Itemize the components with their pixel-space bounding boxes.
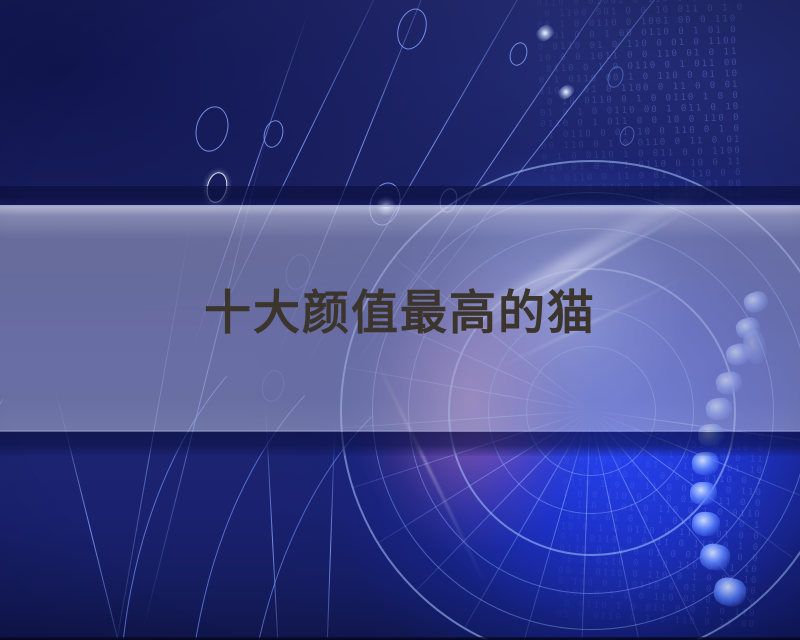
bead-10 bbox=[691, 511, 721, 537]
title-container: 十大颜值最高的猫 bbox=[0, 288, 800, 340]
banner-image: 0110 0 01001 0 110 0 0011 0 0 1100 001 0… bbox=[0, 0, 800, 640]
ring-node-3 bbox=[191, 103, 233, 155]
bead-9 bbox=[690, 482, 717, 505]
upper-dark-strip bbox=[0, 186, 800, 206]
page-title: 十大颜值最高的猫 bbox=[204, 288, 596, 340]
lower-dark-strip bbox=[0, 432, 800, 456]
